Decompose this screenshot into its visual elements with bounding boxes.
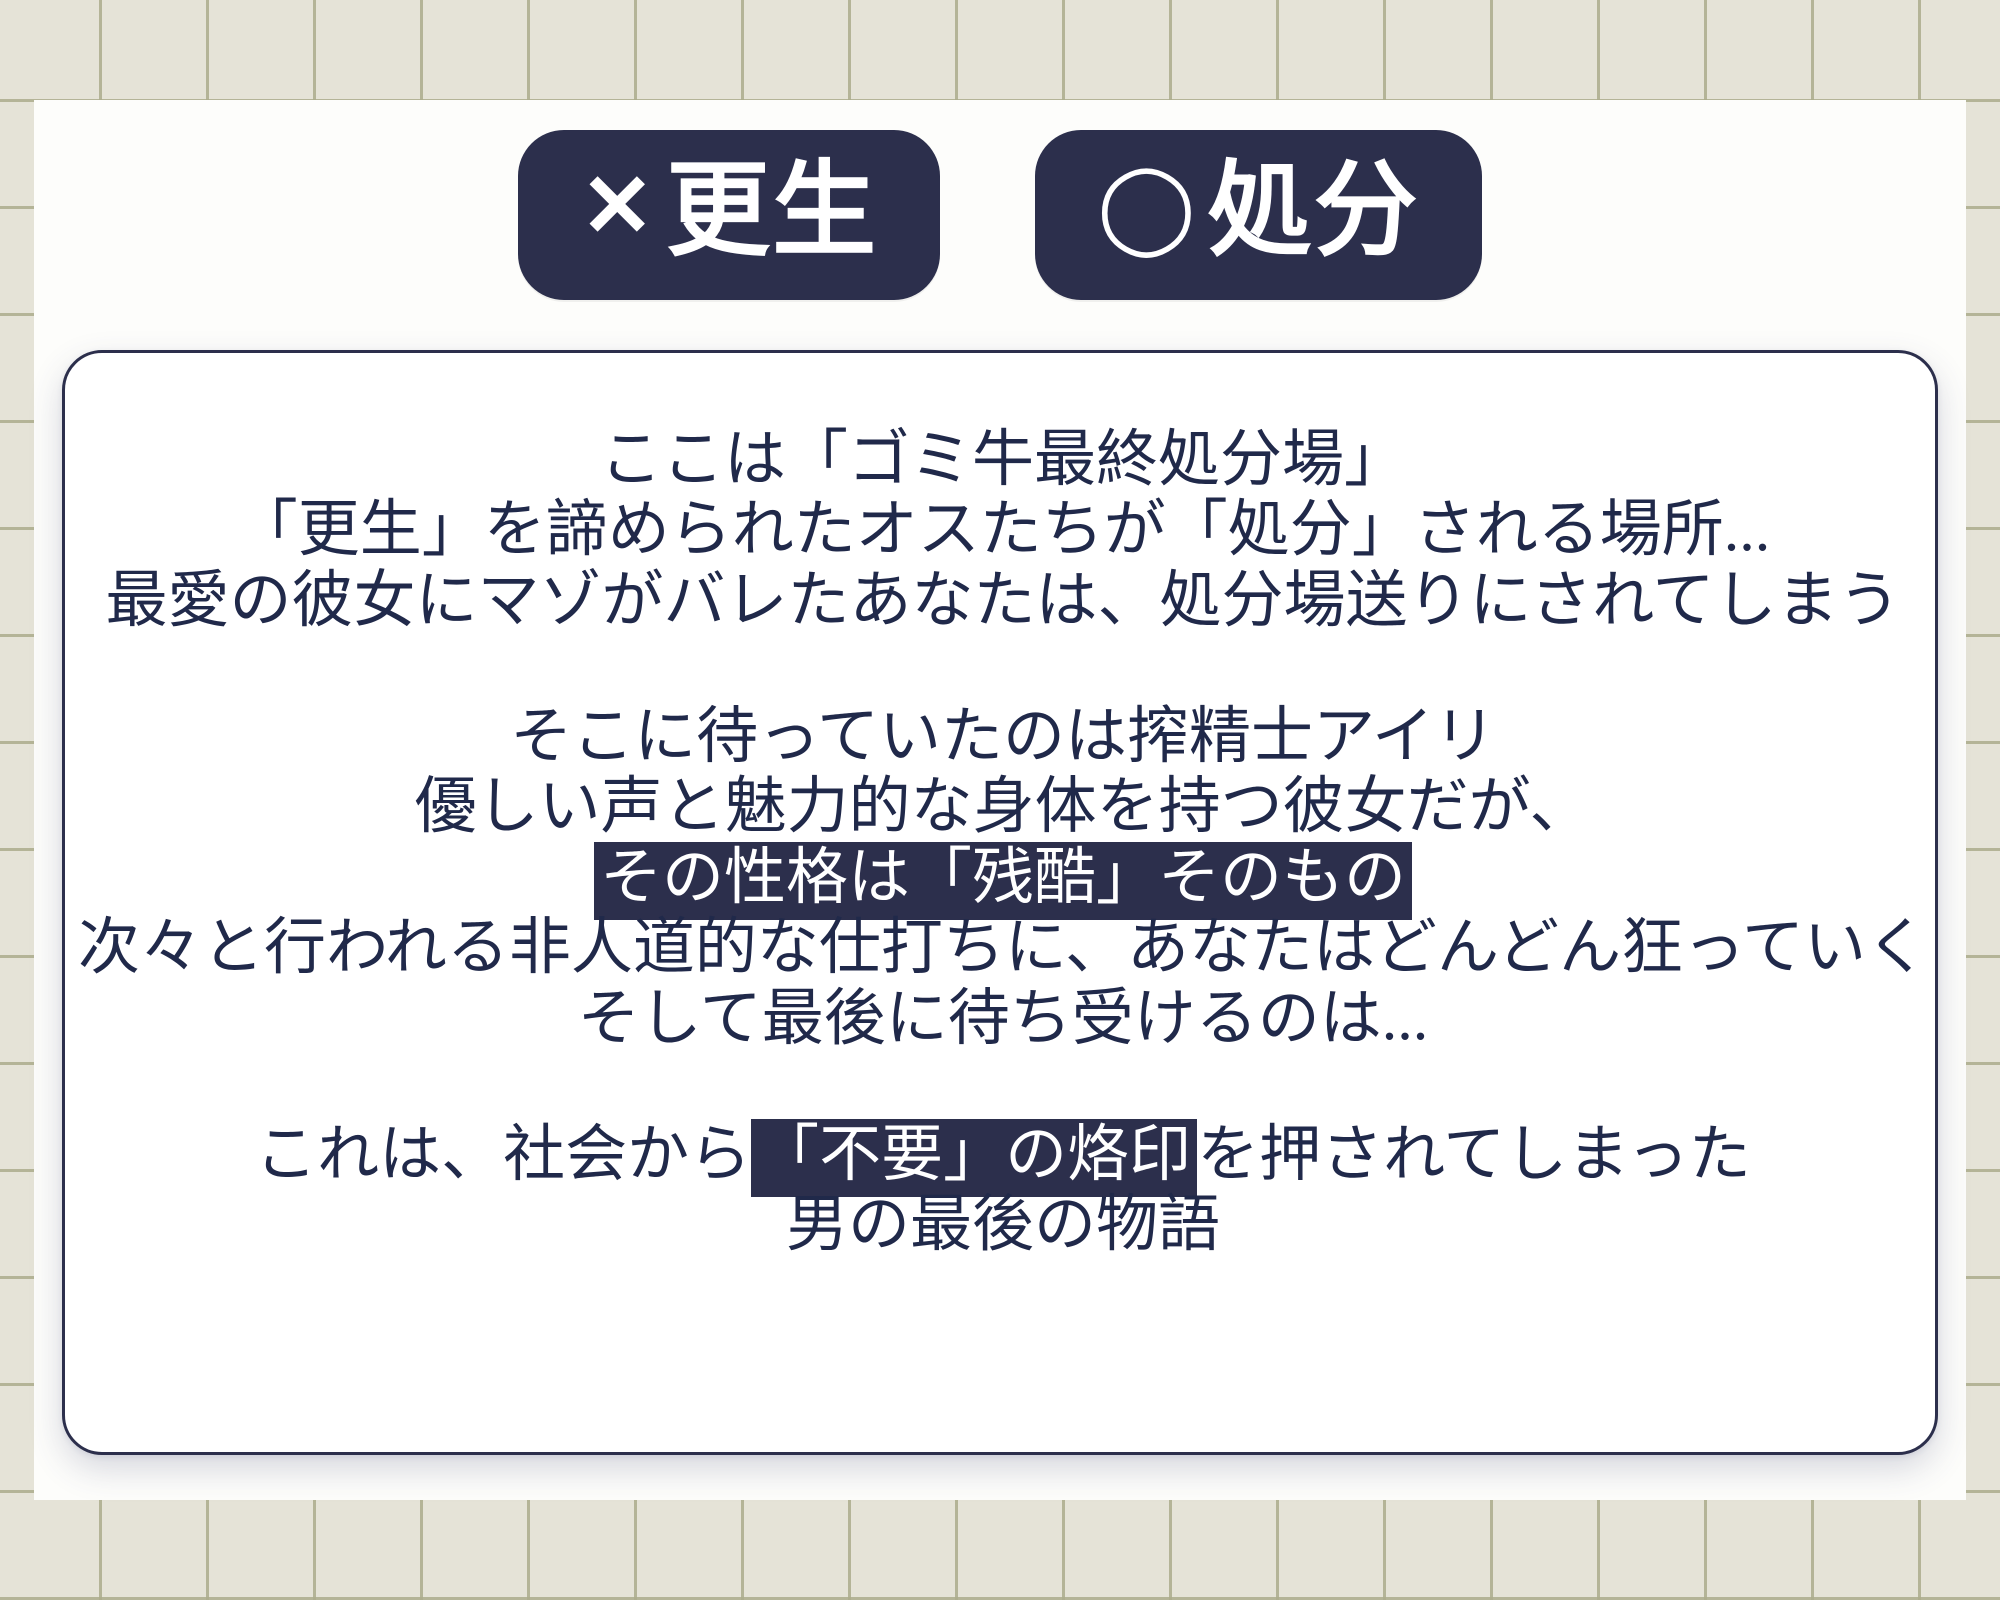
plain-text: 最愛の彼女にマゾがバレたあなたは、処分場送りにされてしまう [106, 567, 1901, 635]
bottom-grid-band [0, 1500, 2000, 1600]
plain-text: ここは「ゴミ牛最終処分場」 [600, 426, 1406, 494]
badge-kousei-label: 更生 [666, 160, 878, 264]
paragraph-gap [65, 636, 1938, 702]
highlighted-text: 「不要」の烙印 [751, 1119, 1197, 1197]
content-card: ✕ 更生 ◯ 処分 ここは「ゴミ牛最終処分場」「更生」を諦められたオスたちが「処… [34, 100, 1966, 1500]
story-text: ここは「ゴミ牛最終処分場」「更生」を諦められたオスたちが「処分」される場所...… [65, 353, 1938, 1261]
story-line: その性格は「残酷」そのもの [65, 843, 1938, 913]
story-line: これは、社会から「不要」の烙印を押されてしまった [65, 1120, 1938, 1190]
paragraph-gap [65, 1054, 1938, 1120]
story-line: 優しい声と魅力的な身体を持つ彼女だが、 [65, 772, 1938, 842]
circle-mark-icon: ◯ [1097, 164, 1197, 252]
story-line: そして最後に待ち受けるのは... [65, 984, 1938, 1054]
plain-text: 「更生」を諦められたオスたちが「処分」される場所... [236, 496, 1771, 564]
page-background: ✕ 更生 ◯ 処分 ここは「ゴミ牛最終処分場」「更生」を諦められたオスたちが「処… [0, 0, 2000, 1600]
story-line: 次々と行われる非人道的な仕打ちに、あなたはどんどん狂っていく [65, 913, 1938, 983]
plain-text: 次々と行われる非人道的な仕打ちに、あなたはどんどん狂っていく [78, 914, 1928, 982]
story-line: 男の最後の物語 [65, 1190, 1938, 1260]
story-line: ここは「ゴミ牛最終処分場」 [65, 425, 1938, 495]
plain-text: そして最後に待ち受けるのは... [578, 985, 1429, 1053]
plain-text: 優しい声と魅力的な身体を持つ彼女だが、 [415, 773, 1592, 841]
badge-shobun-label: 処分 [1208, 160, 1420, 264]
badge-kousei: ✕ 更生 [518, 130, 940, 300]
cross-mark-icon: ✕ [580, 164, 656, 252]
story-panel: ここは「ゴミ牛最終処分場」「更生」を諦められたオスたちが「処分」される場所...… [62, 350, 1938, 1455]
story-line: そこに待っていたのは搾精士アイリ [65, 702, 1938, 772]
plain-text: 男の最後の物語 [786, 1191, 1220, 1259]
story-line: 最愛の彼女にマゾがバレたあなたは、処分場送りにされてしまう [65, 566, 1938, 636]
story-line: 「更生」を諦められたオスたちが「処分」される場所... [65, 495, 1938, 565]
plain-text: そこに待っていたのは搾精士アイリ [510, 703, 1496, 771]
plain-text: これは、社会から [255, 1121, 751, 1189]
highlighted-text: その性格は「残酷」そのもの [594, 842, 1412, 920]
badge-row: ✕ 更生 ◯ 処分 [34, 130, 1966, 300]
badge-shobun: ◯ 処分 [1035, 130, 1482, 300]
plain-text: を押されてしまった [1197, 1121, 1751, 1189]
